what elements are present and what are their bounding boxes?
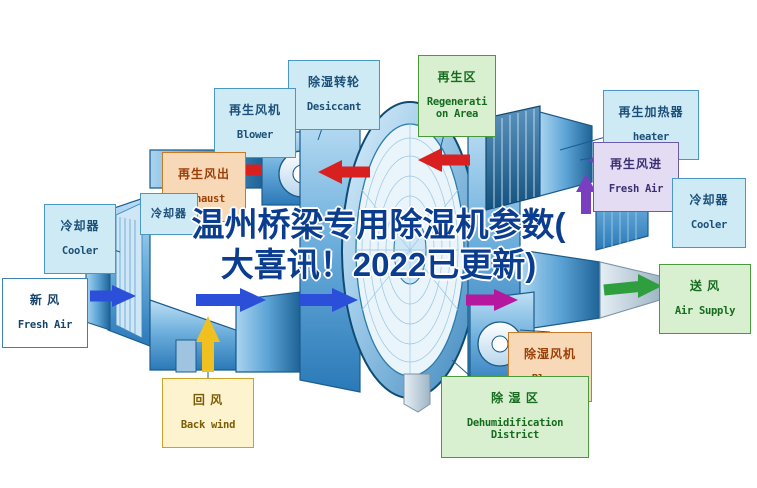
blower-hub-bottom xyxy=(492,336,508,352)
label-dehumidification-district: 除 湿 区 Dehumidification District xyxy=(441,376,589,458)
label-cooler-left: 冷却器 Cooler xyxy=(44,204,116,274)
label-cooler-right-en: Cooler xyxy=(677,220,741,232)
label-regeneration-blower-cn: 再生风机 xyxy=(219,104,291,117)
label-regeneration-fresh-air-in-en: Fresh Air xyxy=(598,184,674,196)
label-cooler-left-en: Cooler xyxy=(49,246,111,258)
label-desiccant-wheel: 除湿转轮 Desiccant xyxy=(288,60,380,130)
label-regeneration-blower: 再生风机 Blower xyxy=(214,88,296,158)
label-dehumidification-district-en: Dehumidification District xyxy=(446,418,584,442)
label-return-air: 回 风 Back wind xyxy=(162,378,254,448)
label-desiccant-wheel-en: Desiccant xyxy=(293,102,375,114)
label-desiccant-wheel-cn: 除湿转轮 xyxy=(293,76,375,89)
label-regeneration-heater-cn: 再生加热器 xyxy=(608,106,694,119)
desiccant-wheel-rotor xyxy=(342,102,478,398)
label-fresh-air-intake: 新 风 Fresh Air xyxy=(2,278,88,348)
label-air-supply-en: Air Supply xyxy=(664,306,746,318)
label-return-air-cn: 回 风 xyxy=(167,394,249,407)
label-regeneration-blower-en: Blower xyxy=(219,130,291,142)
diagram-canvas: 除湿转轮 Desiccant 再生区 Regenerati on Area 再生… xyxy=(0,0,757,488)
label-cooler-right: 冷却器 Cooler xyxy=(672,178,746,248)
label-return-air-en: Back wind xyxy=(167,420,249,432)
label-dehumidifying-blower-cn: 除湿风机 xyxy=(513,348,587,361)
label-regeneration-area-en: Regenerati on Area xyxy=(423,97,491,121)
label-fresh-air-intake-en: Fresh Air xyxy=(7,320,83,332)
label-regeneration-exhaust-cn: 再生风出 xyxy=(167,168,241,181)
label-fresh-air-intake-cn: 新 风 xyxy=(7,294,83,307)
label-regeneration-fresh-air-in: 再生风进 Fresh Air xyxy=(593,142,679,212)
label-regeneration-area-cn: 再生区 xyxy=(423,71,491,84)
label-regeneration-fresh-air-in-cn: 再生风进 xyxy=(598,158,674,171)
return-inlet-flange xyxy=(176,340,196,372)
label-cooler-middle-cn: 冷却器 xyxy=(143,208,195,220)
label-cooler-middle: 冷却器 xyxy=(140,193,198,235)
label-air-supply: 送 风 Air Supply xyxy=(659,264,751,334)
label-dehumidification-district-cn: 除 湿 区 xyxy=(446,392,584,405)
label-regeneration-area: 再生区 Regenerati on Area xyxy=(418,55,496,137)
label-cooler-right-cn: 冷却器 xyxy=(677,194,741,207)
label-cooler-left-cn: 冷却器 xyxy=(49,220,111,233)
base-support xyxy=(404,374,430,412)
label-air-supply-cn: 送 风 xyxy=(664,280,746,293)
